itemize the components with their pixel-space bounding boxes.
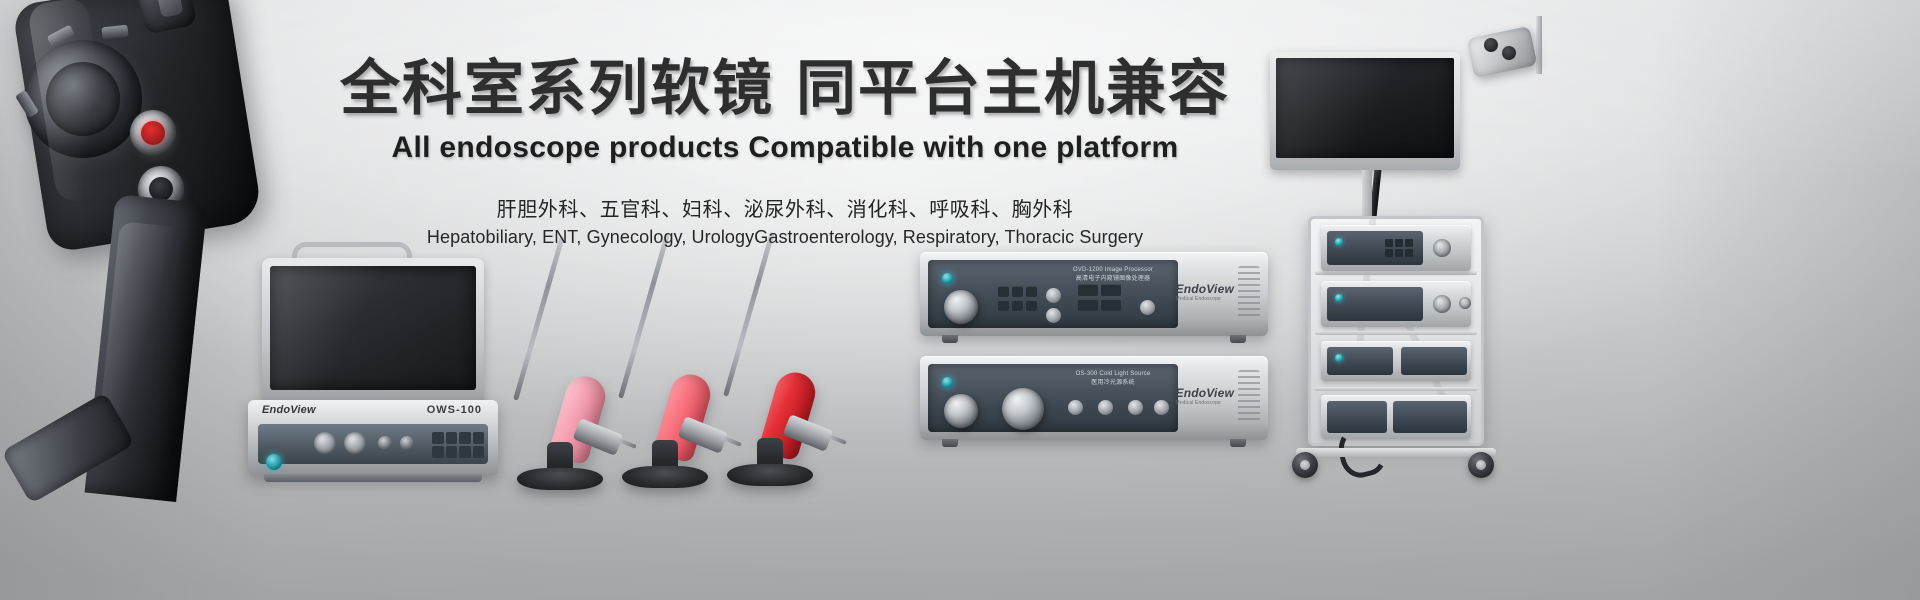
processor-button-a: [1046, 288, 1061, 303]
scope-shaft: [513, 236, 565, 401]
cart-frame: [1308, 216, 1484, 446]
page-title: 全科室系列软镜同平台主机兼容: [0, 54, 1570, 125]
processor-foot-right: [1230, 335, 1246, 343]
scope-stand-base: [727, 464, 813, 486]
cart-unit-middle-knob: [1433, 295, 1451, 313]
light-source-button-d: [1154, 400, 1169, 415]
console-port-2: [400, 436, 414, 450]
processor-button-b: [1046, 308, 1061, 323]
processor-keypad: [998, 286, 1037, 311]
console-port-1: [378, 436, 392, 450]
cart-shelf-3: [1315, 387, 1477, 391]
processor-front-panel: OVD-1200 Image Processor高清电子内窥镜图像处理器: [928, 260, 1178, 328]
scope-stand-base: [622, 466, 708, 488]
console-power-indicator: [266, 454, 282, 470]
departments-english: Hepatobiliary, ENT, Gynecology, UrologyG…: [0, 227, 1570, 248]
light-source-brand-label: EndoView Medical Endoscope: [1176, 386, 1235, 406]
light-source-vent: [1238, 370, 1260, 424]
console-brand-label: EndoView: [262, 404, 316, 416]
endoview-stacked-units-image: OVD-1200 Image Processor高清电子内窥镜图像处理器 End…: [920, 252, 1270, 452]
cart-unit-middle-button: [1459, 297, 1471, 309]
console-display-bezel: [262, 258, 484, 404]
light-source-unit: OS-300 Cold Light Source医用冷光源系统 EndoView…: [920, 356, 1268, 440]
processor-panel-label: OVD-1200 Image Processor高清电子内窥镜图像处理器: [1048, 266, 1178, 284]
processor-main-knob: [944, 290, 978, 324]
light-source-foot-right: [1230, 439, 1246, 447]
cart-shelf-2: [1315, 331, 1477, 335]
processor-brand-sub: Medical Endoscope: [1176, 296, 1235, 302]
light-source-brand-sub: Medical Endoscope: [1176, 400, 1235, 406]
light-source-main-knob: [944, 394, 978, 428]
departments-chinese: 肝胆外科、五官科、妇科、泌尿外科、消化科、呼吸科、胸外科: [0, 193, 1570, 222]
cart-base-bar: [1296, 448, 1496, 457]
processor-port-group: [1078, 284, 1121, 311]
subtitle-english: All endoscope products Compatible with o…: [0, 131, 1570, 165]
light-source-power-indicator: [942, 377, 953, 388]
banner-text-block: 全科室系列软镜同平台主机兼容 All endoscope products Co…: [0, 54, 1570, 248]
scope-shaft: [618, 234, 670, 399]
cart-unit-middle-panel: [1327, 287, 1423, 321]
cart-unit-lower: [1321, 341, 1471, 381]
console-knob-1: [314, 432, 336, 454]
image-processor-unit: OVD-1200 Image Processor高清电子内窥镜图像处理器 End…: [920, 252, 1268, 336]
console-display-screen: [270, 266, 476, 390]
console-keypad: [432, 432, 484, 458]
processor-foot-left: [942, 335, 958, 343]
processor-vent: [1238, 266, 1260, 320]
light-source-foot-left: [942, 439, 958, 447]
rigid-scope-red-image: [705, 226, 885, 486]
console-knob-2: [344, 432, 366, 454]
cart-unit-middle: [1321, 281, 1471, 327]
headline-part-2: 同平台主机兼容: [796, 55, 1230, 122]
processor-power-indicator: [942, 273, 953, 284]
cart-scope-knob-1: [1484, 38, 1498, 52]
cart-unit-bottom-panel-2: [1393, 401, 1467, 433]
headline-part-1: 全科室系列软镜: [340, 55, 774, 122]
cart-shelf-1: [1315, 271, 1477, 275]
light-source-button-c: [1128, 400, 1143, 415]
console-base-unit: EndoView OWS-100: [248, 400, 498, 476]
console-model-label: OWS-100: [427, 404, 482, 416]
scope-shaft: [723, 232, 775, 397]
endoview-ows100-console-image: EndoView OWS-100: [240, 250, 510, 490]
processor-brand-label: EndoView Medical Endoscope: [1176, 282, 1235, 302]
light-source-intensity-dial: [1002, 388, 1044, 430]
processor-button-c: [1140, 300, 1155, 315]
cart-unit-lower-panel: [1327, 347, 1393, 375]
cart-wheel-left: [1292, 452, 1318, 478]
light-source-front-panel: OS-300 Cold Light Source医用冷光源系统: [928, 364, 1178, 432]
product-banner: 全科室系列软镜同平台主机兼容 All endoscope products Co…: [0, 0, 1920, 600]
cart-wheel-right: [1468, 452, 1494, 478]
light-source-panel-label: OS-300 Cold Light Source医用冷光源系统: [1048, 370, 1178, 388]
cart-unit-lower-panel-2: [1401, 347, 1467, 375]
light-source-button-a: [1068, 400, 1083, 415]
console-feet: [264, 474, 482, 482]
scope-stand-base: [517, 468, 603, 490]
light-source-button-b: [1098, 400, 1113, 415]
